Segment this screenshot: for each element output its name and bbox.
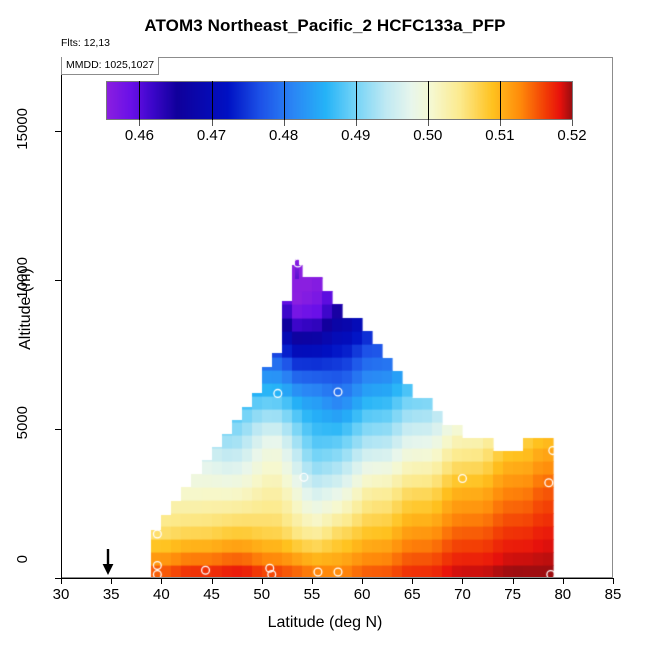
colorbar-tick-label: 0.51 xyxy=(470,127,530,144)
colorbar-separator xyxy=(428,81,429,120)
x-axis-tick xyxy=(111,578,112,584)
x-axis-tick xyxy=(412,578,413,584)
colorbar-separator xyxy=(500,81,501,120)
colorbar-gradient xyxy=(106,81,573,120)
x-axis-tick xyxy=(613,578,614,584)
colorbar-tick xyxy=(428,120,429,126)
y-axis-tick xyxy=(55,429,61,430)
x-axis-tick xyxy=(262,578,263,584)
colorbar-tick xyxy=(139,120,140,126)
colorbar-tick xyxy=(500,120,501,126)
colorbar-tick-label: 0.48 xyxy=(254,127,314,144)
x-axis-tick xyxy=(462,578,463,584)
y-axis-tick-label: 5000 xyxy=(0,406,53,452)
colorbar-tick-label: 0.47 xyxy=(182,127,242,144)
colorbar-separator xyxy=(284,81,285,120)
colorbar[interactable]: 0.460.470.480.490.500.510.52 xyxy=(106,81,573,120)
x-axis-tick xyxy=(563,578,564,584)
x-axis-title: Latitude (deg N) xyxy=(0,614,650,632)
colorbar-tick xyxy=(212,120,213,126)
curtain-plot-figure: ATOM3 Northeast_Pacific_2 HCFC133a_PFP F… xyxy=(0,0,650,650)
y-axis-tick xyxy=(55,578,61,579)
x-axis-tick xyxy=(61,578,62,584)
y-axis-tick-label: 0 xyxy=(0,555,53,601)
x-axis-line xyxy=(61,578,613,579)
y-axis-tick-label: 10000 xyxy=(0,257,53,303)
y-axis-tick xyxy=(55,131,61,132)
colorbar-tick xyxy=(284,120,285,126)
colorbar-tick xyxy=(356,120,357,126)
flights-annotation: Flts: 12,13 xyxy=(61,37,110,49)
x-axis-tick xyxy=(212,578,213,584)
x-axis-tick xyxy=(312,578,313,584)
colorbar-tick-label: 0.46 xyxy=(109,127,169,144)
x-axis-tick xyxy=(362,578,363,584)
y-axis-tick xyxy=(55,280,61,281)
y-axis-tick-label: 15000 xyxy=(0,108,53,154)
page-title: ATOM3 Northeast_Pacific_2 HCFC133a_PFP xyxy=(0,16,650,36)
y-axis-title: Altitude (m) xyxy=(17,209,35,409)
colorbar-separator xyxy=(139,81,140,120)
x-axis-tick-label: 85 xyxy=(583,586,643,603)
x-axis-tick xyxy=(161,578,162,584)
colorbar-tick-label: 0.50 xyxy=(398,127,458,144)
x-axis-tick xyxy=(513,578,514,584)
colorbar-tick xyxy=(572,120,573,126)
colorbar-tick-label: 0.49 xyxy=(326,127,386,144)
colorbar-separator xyxy=(212,81,213,120)
colorbar-separator xyxy=(356,81,357,120)
mmdd-annotation: MMDD: 1025,1027 xyxy=(61,57,159,75)
colorbar-tick-label: 0.52 xyxy=(542,127,602,144)
